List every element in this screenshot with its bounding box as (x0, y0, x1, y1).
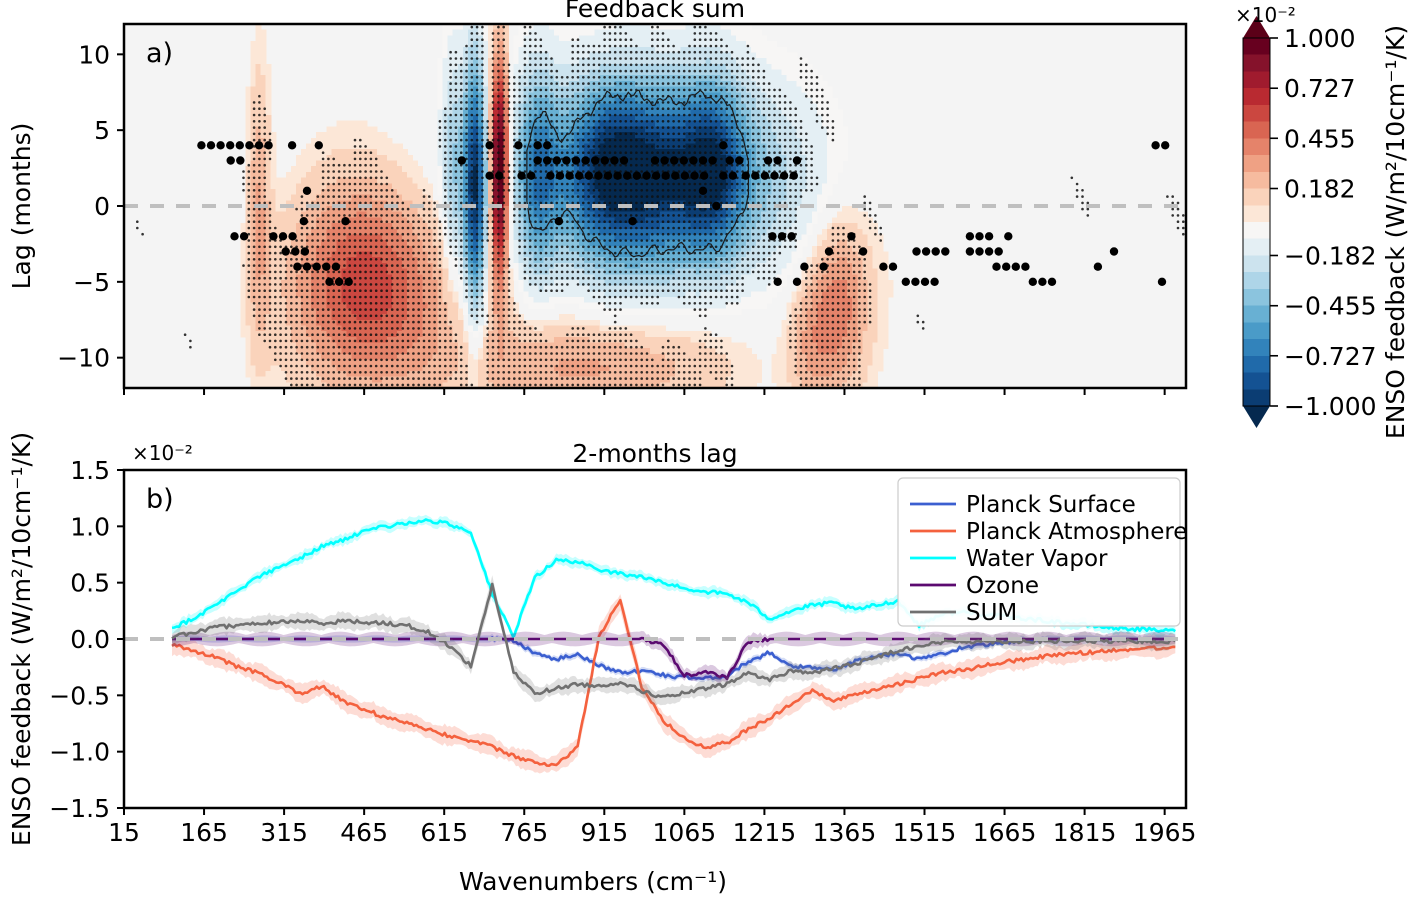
heatmap-cell (690, 331, 696, 337)
heatmap-cell (544, 303, 550, 309)
heatmap-cell (645, 257, 651, 263)
heatmap-cell (483, 81, 489, 87)
heatmap-cell (255, 58, 261, 64)
heatmap-cell (261, 75, 267, 81)
heatmap-cell (448, 35, 454, 41)
heatmap-cell (255, 81, 261, 87)
heatmap-cell (271, 178, 277, 184)
heatmap-cell (675, 75, 681, 81)
heatmap-cell (377, 143, 383, 149)
heatmap-cell (645, 325, 651, 331)
heatmap-cell (271, 172, 277, 178)
heatmap-cell (483, 189, 489, 195)
heatmap-cell (382, 149, 388, 155)
heatmap-cell (438, 81, 444, 87)
heatmap-cell (397, 172, 403, 178)
heatmap-cell (407, 166, 413, 172)
heatmap-cell (427, 377, 433, 383)
heatmap-cell (534, 195, 540, 201)
heatmap-cell (255, 360, 261, 366)
heatmap-cell (640, 297, 646, 303)
heatmap-cell (569, 35, 575, 41)
heatmap-cell (443, 41, 449, 47)
heatmap-cell (569, 257, 575, 263)
heatmap-cell (250, 41, 256, 47)
heatmap-cell (412, 183, 418, 189)
heatmap-cell (529, 297, 535, 303)
heatmap-cell (362, 155, 368, 161)
heatmap-cell (589, 303, 595, 309)
heatmap-cell (352, 132, 358, 138)
heatmap-cell (427, 257, 433, 263)
heatmap-cell (250, 371, 256, 377)
heatmap-cell (468, 98, 474, 104)
heatmap-cell (422, 183, 428, 189)
heatmap-cell (427, 297, 433, 303)
heatmap-cell (655, 325, 661, 331)
heatmap-cell (513, 240, 519, 246)
heatmap-cell (286, 223, 292, 229)
heatmap-cell (397, 155, 403, 161)
heatmap-cell (261, 377, 267, 383)
heatmap-cell (286, 183, 292, 189)
heatmap-cell (250, 320, 256, 326)
heatmap-cell (453, 291, 459, 297)
heatmap-cell (402, 149, 408, 155)
heatmap-cell (438, 92, 444, 98)
heatmap-cell (554, 291, 560, 297)
heatmap-cell (255, 337, 261, 343)
heatmap-cell (306, 178, 312, 184)
heatmap-cell (549, 331, 555, 337)
heatmap-cell (240, 303, 246, 309)
heatmap-cell (524, 297, 530, 303)
heatmap-cell (549, 320, 555, 326)
heatmap-cell (655, 331, 661, 337)
heatmap-cell (357, 217, 363, 223)
heatmap-cell (296, 189, 302, 195)
heatmap-cell (301, 172, 307, 178)
heatmap-cell (266, 354, 272, 360)
heatmap-cell (690, 337, 696, 343)
heatmap-cell (549, 303, 555, 309)
heatmap-cell (539, 320, 545, 326)
heatmap-cell (559, 30, 565, 36)
heatmap-cell (463, 257, 469, 263)
heatmap-cell (266, 172, 272, 178)
heatmap-cell (468, 75, 474, 81)
heatmap-cell (245, 314, 251, 320)
heatmap-cell (640, 377, 646, 383)
heatmap-cell (453, 320, 459, 326)
heatmap-cell (564, 286, 570, 292)
heatmap-cell (397, 166, 403, 172)
heatmap-cell (645, 331, 651, 337)
heatmap-cell (685, 257, 691, 263)
heatmap-cell (245, 109, 251, 115)
heatmap-cell (635, 75, 641, 81)
heatmap-cell (539, 325, 545, 331)
heatmap-cell (321, 320, 327, 326)
heatmap-cell (250, 87, 256, 93)
heatmap-cell (306, 155, 312, 161)
heatmap-cell (402, 178, 408, 184)
heatmap-cell (261, 35, 267, 41)
heatmap-cell (574, 297, 580, 303)
heatmap-cell (478, 354, 484, 360)
heatmap-cell (544, 291, 550, 297)
heatmap-cell (559, 70, 565, 76)
heatmap-cell (443, 291, 449, 297)
heatmap-cell (448, 291, 454, 297)
heatmap-cell (266, 109, 272, 115)
heatmap-cell (341, 121, 347, 127)
heatmap-cell (240, 314, 246, 320)
heatmap-cell (331, 149, 337, 155)
heatmap-cell (569, 320, 575, 326)
heatmap-cell (518, 257, 524, 263)
heatmap-cell (513, 274, 519, 280)
heatmap-cell (513, 246, 519, 252)
heatmap-cell (549, 41, 555, 47)
heatmap-cell (569, 314, 575, 320)
heatmap-cell (316, 161, 322, 167)
heatmap-cell (529, 75, 535, 81)
heatmap-cell (255, 217, 261, 223)
heatmap-cell (311, 166, 317, 172)
heatmap-cell (438, 155, 444, 161)
heatmap-cell (245, 149, 251, 155)
heatmap-cell (630, 303, 636, 309)
heatmap-cell (589, 30, 595, 36)
heatmap-cell (255, 343, 261, 349)
heatmap-cell (347, 155, 353, 161)
heatmap-cell (362, 257, 368, 263)
heatmap-cell (311, 195, 317, 201)
heatmap-cell (478, 325, 484, 331)
heatmap-cell (518, 269, 524, 275)
heatmap-cell (518, 280, 524, 286)
heatmap-cell (635, 35, 641, 41)
heatmap-cell (301, 178, 307, 184)
heatmap-cell (255, 30, 261, 36)
heatmap-cell (645, 30, 651, 36)
heatmap-cell (321, 337, 327, 343)
heatmap-cell (579, 257, 585, 263)
heatmap-cell (594, 320, 600, 326)
heatmap-cell (513, 70, 519, 76)
heatmap-cell (255, 365, 261, 371)
heatmap-cell (402, 166, 408, 172)
heatmap-cell (261, 348, 267, 354)
heatmap-cell (427, 320, 433, 326)
heatmap-cell (534, 291, 540, 297)
heatmap-cell (240, 280, 246, 286)
heatmap-cell (245, 360, 251, 366)
heatmap-cell (402, 189, 408, 195)
heatmap-cell (281, 195, 287, 201)
heatmap-cell (367, 143, 373, 149)
heatmap-cell (261, 360, 267, 366)
heatmap-cell (417, 195, 423, 201)
heatmap-cell (316, 178, 322, 184)
heatmap-cell (412, 161, 418, 167)
heatmap-cell (266, 348, 272, 354)
heatmap-cell (347, 149, 353, 155)
heatmap-cell (240, 320, 246, 326)
heatmap-cell (316, 166, 322, 172)
heatmap-cell (377, 138, 383, 144)
heatmap-cell (483, 104, 489, 110)
heatmap-cell (640, 75, 646, 81)
heatmap-cell (675, 308, 681, 314)
heatmap-cell (579, 75, 585, 81)
heatmap-cell (261, 58, 267, 64)
heatmap-cell (640, 217, 646, 223)
heatmap-cell (655, 308, 661, 314)
heatmap-cell (311, 178, 317, 184)
heatmap-cell (680, 217, 686, 223)
heatmap-cell (438, 166, 444, 172)
heatmap-cell (255, 64, 261, 70)
heatmap-cell (650, 308, 656, 314)
heatmap-cell (680, 98, 686, 104)
heatmap-cell (453, 297, 459, 303)
heatmap-cell (518, 64, 524, 70)
heatmap-cell (513, 263, 519, 269)
heatmap-cell (372, 149, 378, 155)
heatmap-cell (524, 291, 530, 297)
heatmap-cell (422, 217, 428, 223)
figure-canvas: −10−50510Feedback suma)Lag (months)−1.5−… (0, 0, 1418, 905)
heatmap-cell (296, 166, 302, 172)
heatmap-cell (579, 217, 585, 223)
heatmap-cell (483, 200, 489, 206)
heatmap-cell (559, 291, 565, 297)
heatmap-cell (513, 269, 519, 275)
heatmap-cell (468, 365, 474, 371)
heatmap-cell (438, 178, 444, 184)
heatmap-cell (261, 41, 267, 47)
heatmap-cell (518, 47, 524, 53)
heatmap-cell (245, 320, 251, 326)
heatmap-cell (438, 64, 444, 70)
heatmap-cell (463, 75, 469, 81)
heatmap-cell (245, 331, 251, 337)
heatmap-cell (675, 331, 681, 337)
heatmap-cell (291, 195, 297, 201)
heatmap-cell (645, 41, 651, 47)
heatmap-cell (255, 75, 261, 81)
heatmap-cell (271, 377, 277, 383)
heatmap-cell (245, 98, 251, 104)
heatmap-cell (478, 377, 484, 383)
heatmap-cell (559, 52, 565, 58)
heatmap-cell (407, 178, 413, 184)
heatmap-cell (443, 58, 449, 64)
heatmap-cell (554, 47, 560, 53)
heatmap-cell (448, 30, 454, 36)
heatmap-cell (266, 195, 272, 201)
heatmap-cell (655, 337, 661, 343)
heatmap-cell (266, 189, 272, 195)
heatmap-cell (245, 343, 251, 349)
heatmap-cell (630, 30, 636, 36)
panel-a-plot-area (124, 24, 1186, 389)
heatmap-cell (271, 206, 277, 212)
heatmap-cell (675, 337, 681, 343)
heatmap-cell (240, 331, 246, 337)
heatmap-cell (473, 360, 479, 366)
heatmap-cell (680, 30, 686, 36)
heatmap-cell (680, 41, 686, 47)
heatmap-cell (266, 81, 272, 87)
heatmap-cell (468, 371, 474, 377)
heatmap-cell (377, 161, 383, 167)
heatmap-cell (438, 189, 444, 195)
heatmap-cell (549, 291, 555, 297)
heatmap-cell (407, 172, 413, 178)
heatmap-cell (468, 257, 474, 263)
heatmap-cell (579, 286, 585, 292)
heatmap-cell (331, 143, 337, 149)
heatmap-cell (321, 377, 327, 383)
heatmap-cell (559, 337, 565, 343)
heatmap-cell (432, 217, 438, 223)
heatmap-cell (250, 257, 256, 263)
heatmap-cell (443, 263, 449, 269)
heatmap-cell (443, 52, 449, 58)
heatmap-cell (463, 35, 469, 41)
heatmap-cell (483, 87, 489, 93)
heatmap-cell (524, 280, 530, 286)
heatmap-cell (255, 348, 261, 354)
heatmap-cell (473, 365, 479, 371)
heatmap-cell (311, 161, 317, 167)
heatmap-cell (665, 331, 671, 337)
heatmap-cell (255, 35, 261, 41)
heatmap-cell (625, 308, 631, 314)
heatmap-cell (539, 257, 545, 263)
heatmap-cell (427, 217, 433, 223)
heatmap-cell (690, 348, 696, 354)
heatmap-cell (529, 291, 535, 297)
heatmap-cell (468, 360, 474, 366)
heatmap-cell (271, 200, 277, 206)
heatmap-cell (286, 240, 292, 246)
heatmap-cell (341, 143, 347, 149)
heatmap-cell (458, 41, 464, 47)
heatmap-cell (443, 92, 449, 98)
heatmap-cell (306, 166, 312, 172)
heatmap-cell (564, 35, 570, 41)
heatmap-cell (326, 149, 332, 155)
heatmap-cell (250, 64, 256, 70)
heatmap-cell (427, 337, 433, 343)
heatmap-cell (276, 371, 282, 377)
heatmap-cell (483, 30, 489, 36)
heatmap-cell (564, 30, 570, 36)
heatmap-cell (584, 325, 590, 331)
heatmap-cell (286, 195, 292, 201)
heatmap-cell (255, 115, 261, 121)
heatmap-cell (518, 58, 524, 64)
heatmap-cell (311, 149, 317, 155)
heatmap-cell (397, 161, 403, 167)
heatmap-cell (387, 149, 393, 155)
heatmap-cell (306, 143, 312, 149)
heatmap-cell (286, 178, 292, 184)
heatmap-cell (357, 257, 363, 263)
heatmap-cell (640, 115, 646, 121)
heatmap-cell (478, 371, 484, 377)
heatmap-cell (564, 41, 570, 47)
heatmap-cell (240, 246, 246, 252)
heatmap-cell (240, 269, 246, 275)
heatmap-cell (554, 58, 560, 64)
heatmap-cell (286, 212, 292, 218)
heatmap-cell (554, 30, 560, 36)
heatmap-cell (357, 126, 363, 132)
heatmap-cell (286, 172, 292, 178)
heatmap-cell (513, 58, 519, 64)
heatmap-cell (468, 195, 474, 201)
heatmap-cell (468, 320, 474, 326)
heatmap-cell (665, 30, 671, 36)
heatmap-cell (261, 371, 267, 377)
heatmap-cell (584, 35, 590, 41)
heatmap-cell (539, 35, 545, 41)
heatmap-cell (534, 280, 540, 286)
heatmap-cell (271, 217, 277, 223)
heatmap-cell (463, 308, 469, 314)
heatmap-cell (574, 337, 580, 343)
heatmap-cell (513, 223, 519, 229)
heatmap-cell (630, 325, 636, 331)
heatmap-cell (387, 143, 393, 149)
heatmap-cell (554, 331, 560, 337)
heatmap-cell (291, 183, 297, 189)
heatmap-cell (250, 331, 256, 337)
heatmap-cell (539, 75, 545, 81)
heatmap-cell (357, 132, 363, 138)
heatmap-cell (367, 126, 373, 132)
heatmap-cell (468, 115, 474, 121)
heatmap-cell (518, 41, 524, 47)
heatmap-cell (549, 30, 555, 36)
heatmap-cell (377, 149, 383, 155)
heatmap-cell (367, 217, 373, 223)
heatmap-cell (660, 291, 666, 297)
heatmap-cell (271, 161, 277, 167)
heatmap-cell (544, 35, 550, 41)
heatmap-cell (685, 308, 691, 314)
heatmap-cell (367, 257, 373, 263)
heatmap-cell (529, 286, 535, 292)
heatmap-cell (271, 132, 277, 138)
heatmap-cell (266, 70, 272, 76)
heatmap-cell (250, 47, 256, 53)
heatmap-cell (473, 35, 479, 41)
heatmap-cell (670, 337, 676, 343)
heatmap-cell (529, 35, 535, 41)
heatmap-cell (640, 195, 646, 201)
heatmap-cell (483, 75, 489, 81)
heatmap-cell (266, 178, 272, 184)
heatmap-cell (680, 377, 686, 383)
heatmap-cell (650, 343, 656, 349)
heatmap-cell (240, 240, 246, 246)
